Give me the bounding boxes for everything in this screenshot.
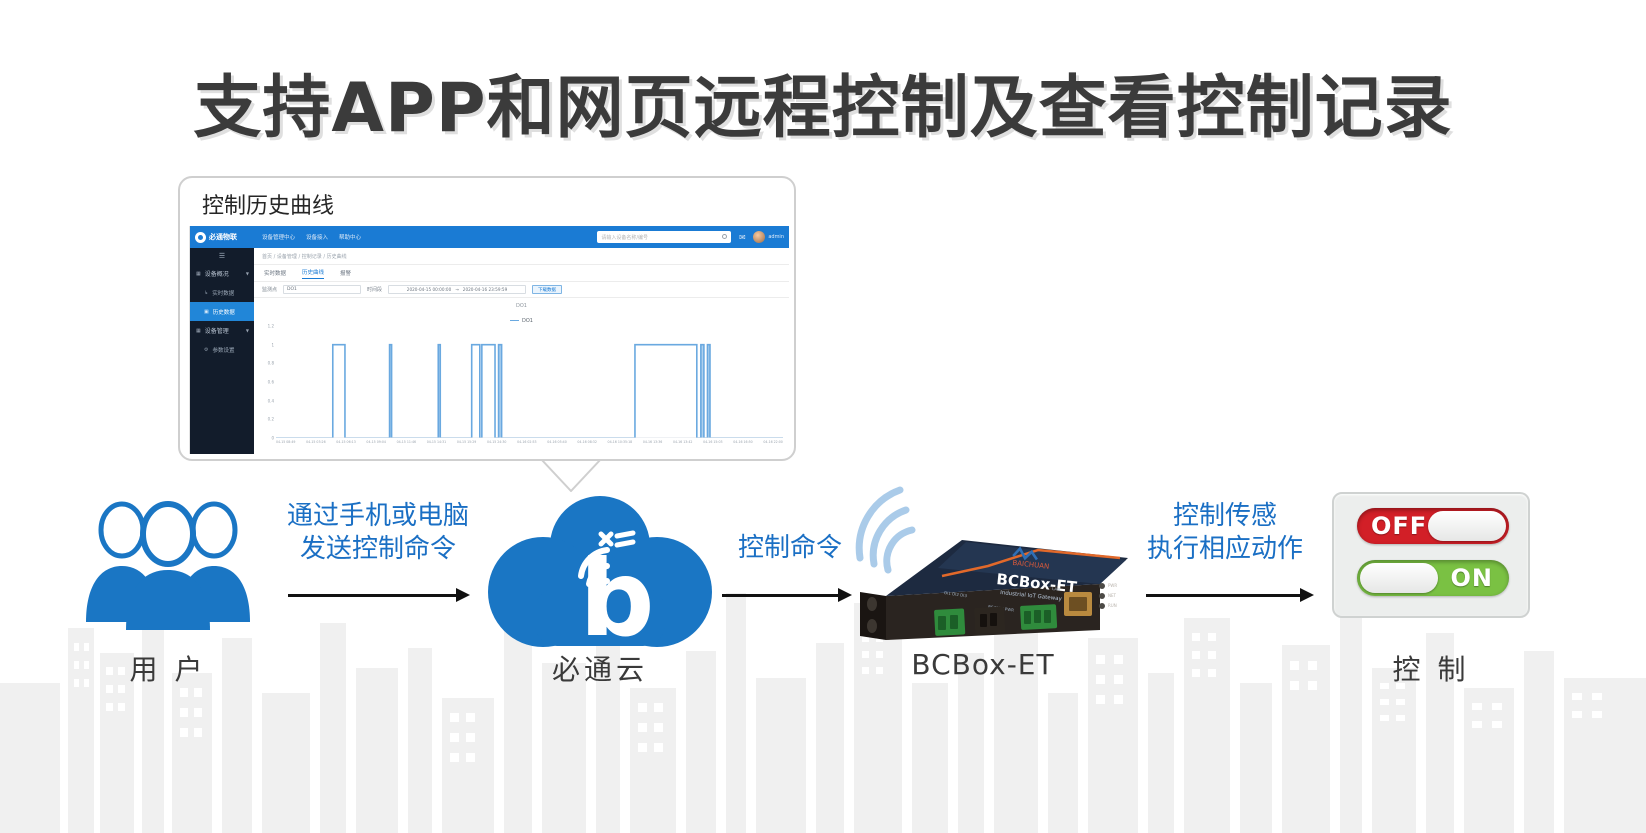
tab-alarm[interactable]: 报警 — [340, 269, 351, 277]
relay-switch-panel: OFF ON — [1332, 492, 1530, 618]
pulse-7 — [701, 345, 704, 438]
y-tick-2: 0.8 — [268, 361, 274, 366]
chevron-down-icon: ▼ — [246, 271, 249, 276]
x-tick-12: 04-16 13:36 — [643, 440, 662, 452]
dashboard-main: 首页 / 设备管理 / 控制记录 / 历史曲线 实时数据 历史曲线 报警 监测点… — [254, 248, 789, 454]
dashboard-topbar: 必通物联 设备管理中心 设备接入 帮助中心 请输入设备名称/编号 ✉ admin — [190, 226, 789, 248]
dashboard-screenshot: 必通物联 设备管理中心 设备接入 帮助中心 请输入设备名称/编号 ✉ admin… — [189, 226, 789, 454]
y-tick-3: 0.6 — [268, 380, 274, 385]
bcbox-et-device-icon: BAICHUAN BCBox-ET Industrial IoT Gateway… — [838, 480, 1128, 655]
x-tick-4: 04-15 11:46 — [397, 440, 416, 452]
x-tick-2: 04-15 06:13 — [336, 440, 355, 452]
user-name: admin — [768, 234, 784, 240]
x-tick-10: 04-16 08:32 — [577, 440, 596, 452]
svg-text:RUN: RUN — [1108, 603, 1117, 608]
y-tick-5: 0.2 — [268, 417, 274, 422]
sidebar-item-devices[interactable]: ▦ 设备管理 ▼ — [190, 321, 254, 340]
menu-collapse-icon[interactable]: ☰ — [190, 248, 254, 264]
sidebar-label-realtime: 实时数据 — [212, 289, 234, 297]
caption-3-line-1: 控制传感 — [1130, 500, 1320, 533]
page-title: 支持APP和网页远程控制及查看控制记录 — [0, 52, 1646, 151]
switch-off-label: OFF — [1371, 508, 1427, 544]
chart-icon: ▣ — [204, 309, 209, 315]
gear-icon: ⚙ — [204, 347, 208, 353]
point-select[interactable]: DO1 — [283, 285, 361, 294]
nav-item-2[interactable]: 帮助中心 — [339, 233, 361, 241]
panel-title: 控制历史曲线 — [202, 188, 334, 220]
line-series-do1 — [276, 326, 783, 438]
arrow-users-to-cloud — [288, 588, 470, 602]
x-tick-16: 04-16 22:00 — [763, 440, 782, 452]
breadcrumb: 首页 / 设备管理 / 控制记录 / 历史曲线 — [254, 248, 789, 265]
svg-text:NET: NET — [1108, 593, 1117, 598]
range-label: 时间段 — [367, 286, 382, 293]
y-tick-4: 0.4 — [268, 398, 274, 403]
point-label: 监测点 — [262, 286, 277, 293]
sidebar-label-overview: 设备概况 — [205, 269, 229, 278]
svg-text:PWR: PWR — [1108, 583, 1117, 588]
x-tick-11: 04-16 10:35:18 — [608, 440, 633, 452]
date-end: 2020-04-16 23:59:59 — [463, 287, 507, 292]
avatar — [753, 231, 765, 243]
y-tick-1: 1 — [271, 342, 274, 347]
pulse-2 — [438, 345, 440, 438]
toggle-switch-on[interactable]: ON — [1357, 560, 1509, 596]
chart-plot-area: 1.210.80.60.40.20 04-15 08:4904-15 03:26… — [254, 320, 789, 454]
caption-users-to-cloud: 通过手机或电脑 发送控制命令 — [268, 500, 488, 565]
user-menu[interactable]: admin — [753, 231, 784, 243]
arrow-cloud-to-device — [722, 588, 852, 602]
sidebar-item-history[interactable]: ▣ 历史数据 — [190, 302, 254, 321]
y-tick-0: 1.2 — [268, 324, 274, 329]
x-tick-13: 04-16 13:42 — [673, 440, 692, 452]
series-polyline — [276, 345, 783, 438]
x-tick-7: 04-15 24:30 — [487, 440, 506, 452]
topbar-nav: 设备管理中心 设备接入 帮助中心 — [262, 233, 361, 241]
toggle-switch-off[interactable]: OFF — [1357, 508, 1509, 544]
date-range-picker[interactable]: 2020-04-15 00:00:00 → 2020-04-16 23:59:5… — [388, 285, 526, 294]
tab-history-curve[interactable]: 历史曲线 — [302, 268, 324, 279]
switch-on-knob[interactable] — [1360, 563, 1438, 593]
filter-bar: 监测点 DO1 时间段 2020-04-15 00:00:00 → 2020-0… — [254, 282, 789, 298]
caption-1-line-2: 发送控制命令 — [268, 533, 488, 566]
chart-title: DO1 — [254, 298, 789, 309]
content-tabs: 实时数据 历史曲线 报警 — [254, 265, 789, 282]
brand-logo[interactable]: 必通物联 — [190, 232, 254, 243]
search-icon — [722, 234, 727, 239]
sidebar-item-settings[interactable]: ⚙ 参数设置 — [190, 340, 254, 359]
pulse-8 — [707, 345, 710, 438]
dashboard-sidebar: ☰ ▦ 设备概况 ▼ ↳ 实时数据 ▣ 历史数据 ▦ 设备管理 ▼ ⚙ 参数设置 — [190, 248, 254, 454]
download-data-button[interactable]: 下载数据 — [532, 285, 562, 294]
switch-off-knob[interactable] — [1428, 511, 1506, 541]
y-axis: 1.210.80.60.40.20 — [258, 326, 274, 438]
x-tick-8: 04-16 02:53 — [517, 440, 536, 452]
svg-text:b: b — [579, 538, 654, 647]
tab-realtime[interactable]: 实时数据 — [264, 269, 286, 277]
search-input[interactable]: 请输入设备名称/编号 — [597, 231, 731, 243]
series-canvas — [276, 326, 783, 438]
svg-text:LAN: LAN — [1052, 586, 1061, 592]
x-tick-0: 04-15 08:49 — [276, 440, 295, 452]
node-label-device: BCBox-ET — [838, 648, 1128, 681]
callout-pointer — [540, 458, 602, 492]
caption-device-to-relay: 控制传感 执行相应动作 — [1130, 500, 1320, 565]
pulse-1 — [390, 345, 392, 438]
x-tick-14: 04-16 15:03 — [703, 440, 722, 452]
chevron-down-icon-2: ▼ — [246, 328, 249, 333]
x-axis: 04-15 08:4904-15 03:2604-15 06:1304-15 0… — [276, 440, 783, 452]
branch-icon: ↳ — [204, 290, 208, 296]
brand-name: 必通物联 — [209, 232, 237, 242]
switch-on-label: ON — [1451, 560, 1494, 596]
logo-mark-icon — [195, 232, 206, 243]
x-tick-3: 04-15 09:04 — [366, 440, 385, 452]
grid-icon: ▦ — [196, 271, 201, 277]
date-start: 2020-04-15 00:00:00 — [407, 287, 451, 292]
users-icon — [78, 500, 258, 630]
sidebar-label-devices: 设备管理 — [205, 326, 229, 335]
arrow-device-to-relay — [1146, 588, 1314, 602]
nav-item-0[interactable]: 设备管理中心 — [262, 233, 295, 241]
date-separator-icon: → — [455, 287, 459, 292]
sidebar-label-settings: 参数设置 — [212, 346, 234, 354]
caption-1-line-1: 通过手机或电脑 — [268, 500, 488, 533]
nav-item-1[interactable]: 设备接入 — [306, 233, 328, 241]
sidebar-item-realtime[interactable]: ↳ 实时数据 — [190, 283, 254, 302]
box-icon: ▦ — [196, 328, 201, 334]
x-tick-9: 04-16 05:40 — [547, 440, 566, 452]
x-tick-6: 04-15 15:29 — [457, 440, 476, 452]
y-tick-6: 0 — [271, 436, 274, 441]
sidebar-label-history: 历史数据 — [213, 308, 235, 316]
search-placeholder: 请输入设备名称/编号 — [601, 234, 648, 241]
x-tick-15: 04-16 16:50 — [733, 440, 752, 452]
mail-icon[interactable]: ✉ — [731, 233, 753, 242]
x-tick-5: 04-15 14:31 — [427, 440, 446, 452]
x-tick-1: 04-15 03:26 — [306, 440, 325, 452]
sidebar-item-overview[interactable]: ▦ 设备概况 ▼ — [190, 264, 254, 283]
node-label-users: 用 户 — [78, 648, 258, 688]
caption-3-line-2: 执行相应动作 — [1130, 533, 1320, 566]
node-label-cloud: 必通云 — [485, 648, 715, 688]
pulse-5 — [499, 345, 502, 438]
node-label-relay: 控 制 — [1332, 648, 1530, 688]
screenshot-callout-panel: 控制历史曲线 必通物联 设备管理中心 设备接入 帮助中心 请输入设备名称/编号 … — [178, 176, 796, 461]
cloud-logo-icon: b — [485, 492, 715, 647]
